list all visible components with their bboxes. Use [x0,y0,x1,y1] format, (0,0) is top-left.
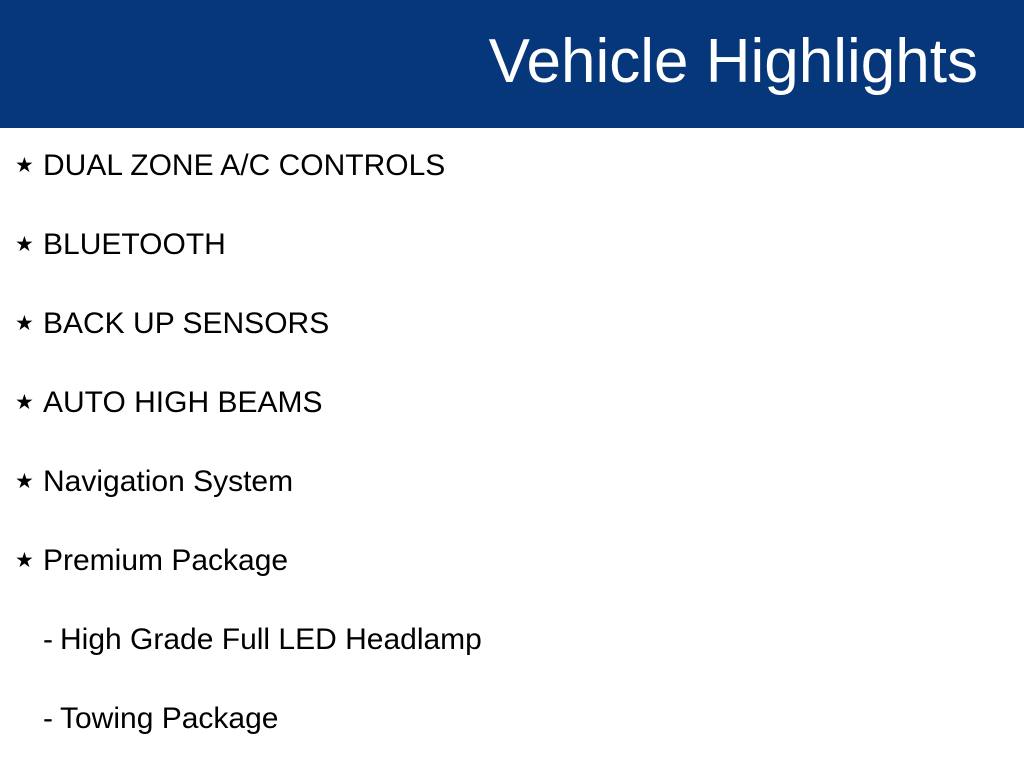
vehicle-highlights-list: ★ DUAL ZONE A/C CONTROLS ★ BLUETOOTH ★ B… [0,128,1024,768]
list-item-label: Navigation System [43,464,293,500]
list-item: ★ Navigation System [0,464,1024,543]
star-bullet-icon: ★ [15,385,43,421]
list-item-label: BACK UP SENSORS [43,306,329,342]
dash-bullet-icon: - [43,622,60,658]
page-title: Vehicle Highlights [489,31,1024,97]
sub-list-item: - Towing Package [0,701,1024,768]
list-item: ★ Premium Package [0,543,1024,622]
slide-header-banner: Vehicle Highlights [0,0,1024,128]
sub-list-item-label: High Grade Full LED Headlamp [60,622,482,658]
star-bullet-icon: ★ [15,306,43,342]
list-item-label: Premium Package [43,543,288,579]
sub-list-item: - High Grade Full LED Headlamp [0,622,1024,701]
star-bullet-icon: ★ [15,227,43,263]
slide: Vehicle Highlights ★ DUAL ZONE A/C CONTR… [0,0,1024,768]
list-item-label: AUTO HIGH BEAMS [43,385,323,421]
list-item-label: DUAL ZONE A/C CONTROLS [43,148,445,184]
dash-bullet-icon: - [43,701,60,737]
list-item: ★ AUTO HIGH BEAMS [0,385,1024,464]
list-item: ★ BACK UP SENSORS [0,306,1024,385]
list-item: ★ DUAL ZONE A/C CONTROLS [0,148,1024,227]
star-bullet-icon: ★ [15,148,43,184]
list-item-label: BLUETOOTH [43,227,226,263]
sub-list-item-label: Towing Package [60,701,278,737]
list-item: ★ BLUETOOTH [0,227,1024,306]
star-bullet-icon: ★ [15,464,43,500]
star-bullet-icon: ★ [15,543,43,579]
